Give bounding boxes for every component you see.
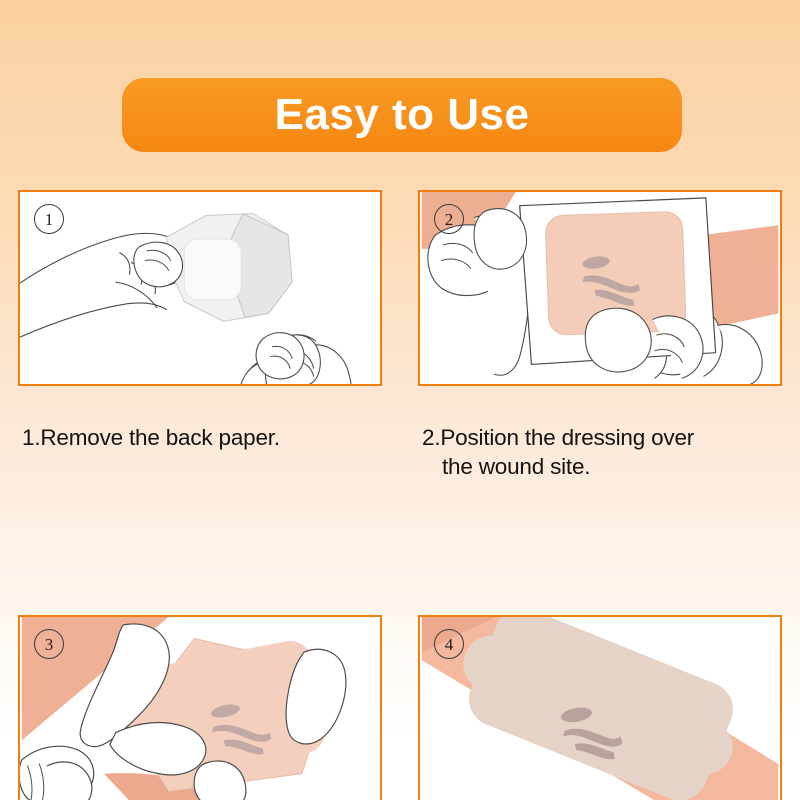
step-4: 4 4. Gently press from the center qutwa. [400,615,800,800]
step-3: 3 3.Remove the frame paper. [0,615,400,800]
illustration-remove-back-paper [20,192,380,384]
page-title: Easy to Use [275,93,530,137]
step-1-caption: 1.Remove the back paper. [18,395,382,453]
step-4-illustration-panel: 4 [418,615,782,800]
step-1: 1 1.Remove the back paper. [0,190,400,510]
steps-row-bottom: 3 3.Remove the frame paper. [0,615,800,800]
step-2-caption: 2.Position the dressing over the wound s… [418,395,782,510]
step-badge-2: 2 [434,204,464,234]
steps-grid: 1 1.Remove the back paper. [0,190,800,800]
step-1-caption-line1: 1.Remove the back paper. [22,425,280,450]
step-2-caption-line1: 2.Position the dressing over [422,425,694,450]
illustration-remove-frame-paper [20,617,380,800]
title-banner: Easy to Use [122,78,682,152]
step-badge-1: 1 [34,204,64,234]
step-badge-3: 3 [34,629,64,659]
title-banner-body: Easy to Use [122,78,682,152]
step-1-illustration-panel: 1 [18,190,382,386]
step-badge-4: 4 [434,629,464,659]
illustration-position-dressing [420,192,780,384]
step-2-caption-line2: the wound site. [422,453,782,482]
steps-row-top: 1 1.Remove the back paper. [0,190,800,510]
step-2: 2 2.Position the dressing over the wound… [400,190,800,510]
step-3-illustration-panel: 3 [18,615,382,800]
illustration-applied-dressing-on-arm [420,617,780,800]
step-2-illustration-panel: 2 [418,190,782,386]
